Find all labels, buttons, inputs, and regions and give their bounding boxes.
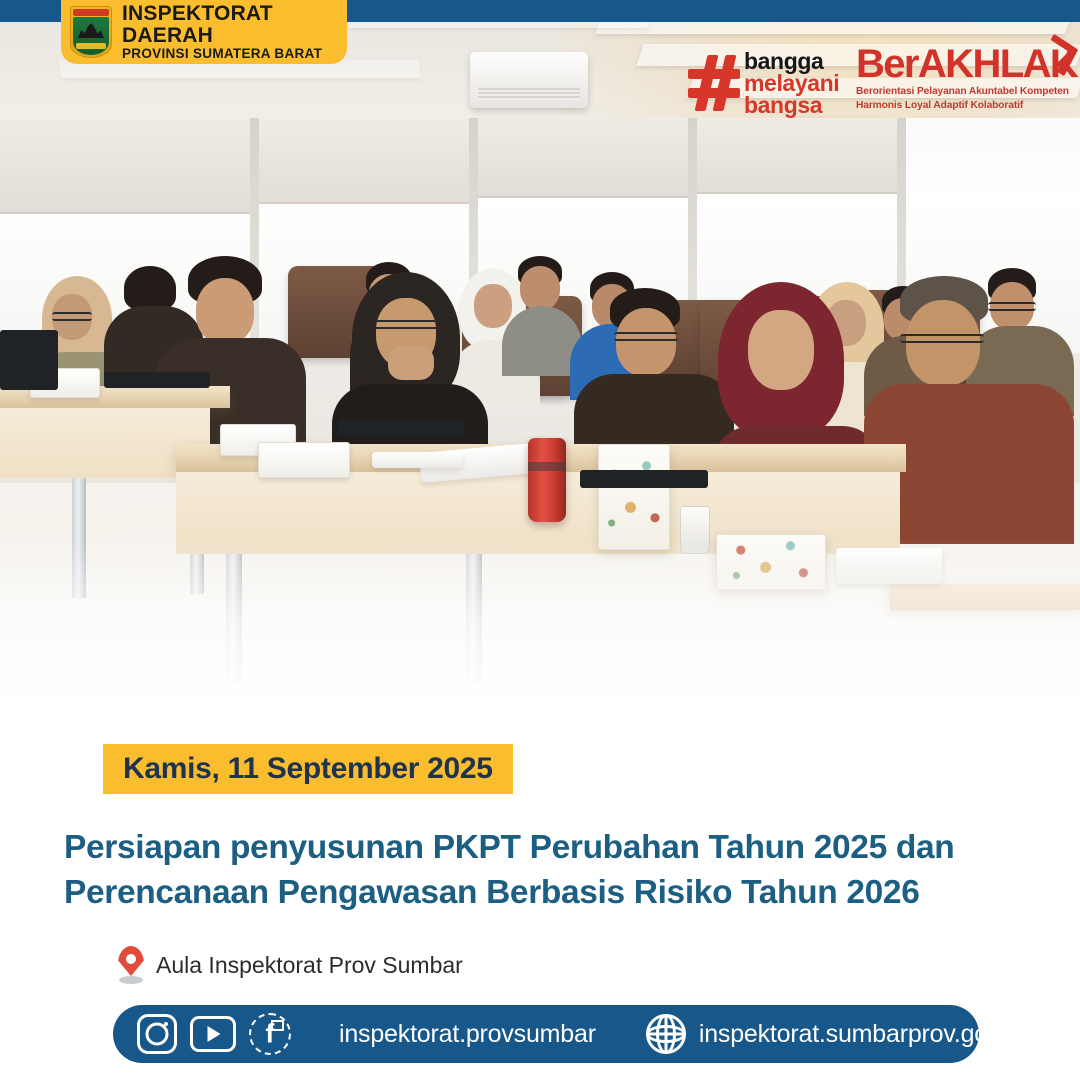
crest-banner: [73, 9, 109, 16]
eyeglasses: [614, 332, 678, 341]
eyeglasses: [988, 302, 1036, 311]
social-handle-text[interactable]: inspektorat.provsumbar: [339, 1020, 596, 1049]
event-title: Persiapan penyusunan PKPT Perubahan Tahu…: [64, 826, 1024, 916]
window-blind: [259, 118, 469, 204]
hair: [124, 266, 176, 310]
head: [906, 300, 980, 386]
gift-box: [598, 444, 670, 550]
event-venue: Aula Inspektorat Prov Sumbar: [118, 946, 463, 984]
head: [520, 266, 560, 310]
crest-ribbon: [76, 43, 106, 49]
instagram-icon[interactable]: [137, 1014, 177, 1054]
snack-box: [258, 442, 350, 478]
west-sumatra-coat-of-arms-icon: [70, 6, 112, 58]
bangga-line-2: melayani: [744, 72, 839, 94]
org-name-secondary: PROVINSI SUMATERA BARAT: [122, 47, 347, 61]
head: [616, 308, 676, 376]
window-blind: [697, 118, 897, 194]
laptop: [580, 470, 708, 488]
eyeglasses: [900, 334, 984, 343]
bangga-line-1: bangga: [744, 50, 839, 72]
website-url-text[interactable]: inspektorat.sumbarprov.go.id: [699, 1020, 1014, 1049]
laptop: [338, 418, 464, 436]
hashtag-icon: [688, 55, 740, 111]
org-logo-badge: INSPEKTORAT DAERAH PROVINSI SUMATERA BAR…: [61, 0, 347, 64]
air-conditioner-unit: [470, 52, 588, 108]
document-sheet: [372, 452, 462, 468]
window-blind: [0, 118, 250, 214]
youtube-icon[interactable]: [190, 1016, 236, 1052]
event-date-badge: Kamis, 11 September 2025: [103, 744, 513, 794]
photo-bottom-fade: [0, 540, 1080, 730]
globe-icon[interactable]: [646, 1014, 686, 1054]
event-title-line-2: Perencanaan Pengawasan Berbasis Risiko T…: [64, 871, 1024, 916]
event-title-line-1: Persiapan penyusunan PKPT Perubahan Tahu…: [64, 826, 1024, 871]
eyeglasses: [52, 312, 92, 321]
face: [748, 310, 814, 390]
laptop: [104, 372, 210, 388]
red-tumbler: [528, 438, 566, 522]
facebook-icon[interactable]: f: [249, 1013, 291, 1055]
event-venue-text: Aula Inspektorat Prov Sumbar: [156, 952, 463, 979]
org-name-block: INSPEKTORAT DAERAH PROVINSI SUMATERA BAR…: [122, 3, 347, 61]
gift-box-pattern: [599, 445, 669, 549]
berakhlak-logo: BerAKHLAK Berorientasi Pelayanan Akuntab…: [856, 44, 1080, 122]
event-date-text: Kamis, 11 September 2025: [123, 752, 493, 786]
eyeglasses: [374, 320, 438, 329]
bangga-wordmark: bangga melayani bangsa: [744, 50, 839, 117]
face: [474, 284, 512, 328]
bangga-melayani-bangsa-logo: bangga melayani bangsa: [688, 47, 856, 119]
location-pin-icon: [118, 946, 144, 984]
social-footer-bar: f inspektorat.provsumbar inspektorat.sum…: [113, 1005, 979, 1063]
berakhlak-values-line-1: Berorientasi Pelayanan Akuntabel Kompete…: [856, 86, 1080, 98]
bangga-line-3: bangsa: [744, 94, 839, 116]
berakhlak-values-line-2: Harmonis Loyal Adaptif Kolaboratif: [856, 100, 1080, 112]
laptop: [0, 330, 58, 390]
head: [196, 278, 254, 344]
window-blind: [478, 118, 688, 198]
hands: [388, 346, 434, 380]
org-name-primary: INSPEKTORAT DAERAH: [122, 3, 347, 47]
